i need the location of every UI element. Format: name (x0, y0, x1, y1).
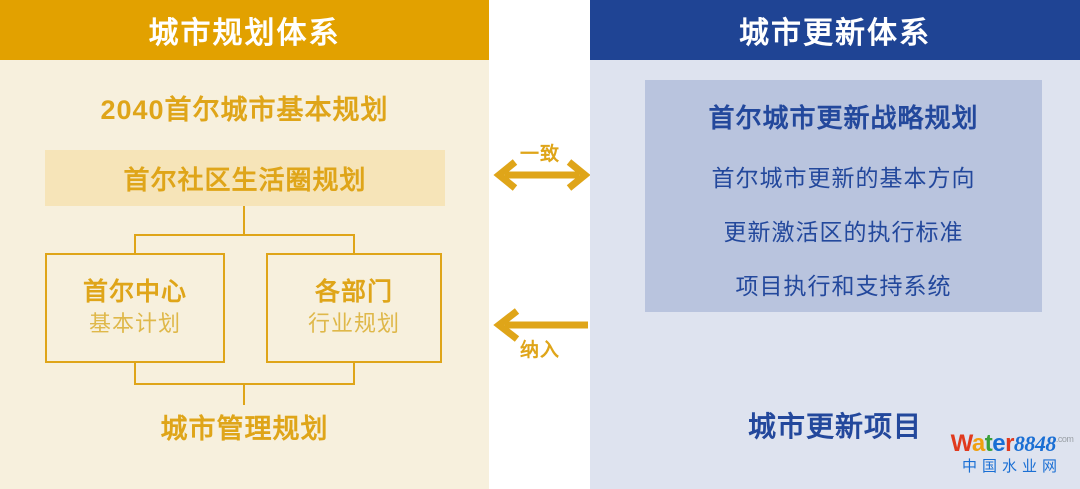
life-circle-plan-box: 首尔社区生活圈规划 (45, 150, 445, 206)
strategy-box-line-3: 项目执行和支持系统 (736, 267, 952, 301)
watermark-number: 8848 (1014, 431, 1056, 456)
connector-drop-right (353, 234, 355, 253)
sub-box-seoul-center-title: 首尔中心 (83, 278, 187, 307)
middle-connector-area: 一致 纳入 (489, 0, 590, 489)
left-panel-title: 2040首尔城市基本规划 (0, 88, 489, 127)
watermark-letter-a: a (972, 430, 985, 457)
left-panel-bottom-label: 城市管理规划 (0, 407, 489, 446)
sub-box-seoul-center: 首尔中心 基本计划 (45, 253, 225, 363)
sub-box-seoul-center-subtitle: 基本计划 (89, 310, 181, 339)
sub-box-departments: 各部门 行业规划 (266, 253, 442, 363)
watermark-logo: Water8848.com 中国水业网 (948, 432, 1076, 474)
strategy-box-title: 首尔城市更新战略规划 (708, 98, 978, 135)
connector-riser-left (134, 363, 136, 385)
strategy-box-line-2: 更新激活区的执行标准 (724, 213, 964, 247)
watermark-tld: .com (1056, 434, 1074, 444)
watermark-letter-w: W (951, 430, 972, 457)
watermark-letter-r: r (1005, 430, 1014, 457)
strategy-box-line-1: 首尔城市更新的基本方向 (712, 159, 976, 193)
connector-drop-left (134, 234, 136, 253)
left-panel-header: 城市规划体系 (0, 0, 489, 60)
sub-box-departments-subtitle: 行业规划 (308, 310, 400, 339)
infographic-canvas: 城市规划体系 2040首尔城市基本规划 首尔社区生活圈规划 首尔中心 基本计划 … (0, 0, 1080, 489)
arrow-consistency-label: 一致 (520, 139, 560, 166)
urban-renewal-strategy-box: 首尔城市更新战略规划 首尔城市更新的基本方向 更新激活区的执行标准 项目执行和支… (645, 80, 1042, 312)
connector-vertical-bottom (243, 383, 245, 405)
watermark-wordmark: Water8848.com (948, 432, 1076, 456)
right-panel-header: 城市更新体系 (590, 0, 1080, 60)
connector-vertical-top (243, 206, 245, 235)
connector-riser-right (353, 363, 355, 385)
left-panel: 城市规划体系 2040首尔城市基本规划 首尔社区生活圈规划 首尔中心 基本计划 … (0, 0, 489, 489)
sub-box-departments-title: 各部门 (315, 278, 393, 307)
arrow-incorporation-label: 纳入 (520, 335, 560, 362)
watermark-letter-e: e (992, 430, 1005, 457)
connector-horizontal-top (134, 234, 355, 236)
right-panel: 城市更新体系 首尔城市更新战略规划 首尔城市更新的基本方向 更新激活区的执行标准… (590, 0, 1080, 489)
watermark-chinese-name: 中国水业网 (948, 459, 1076, 474)
